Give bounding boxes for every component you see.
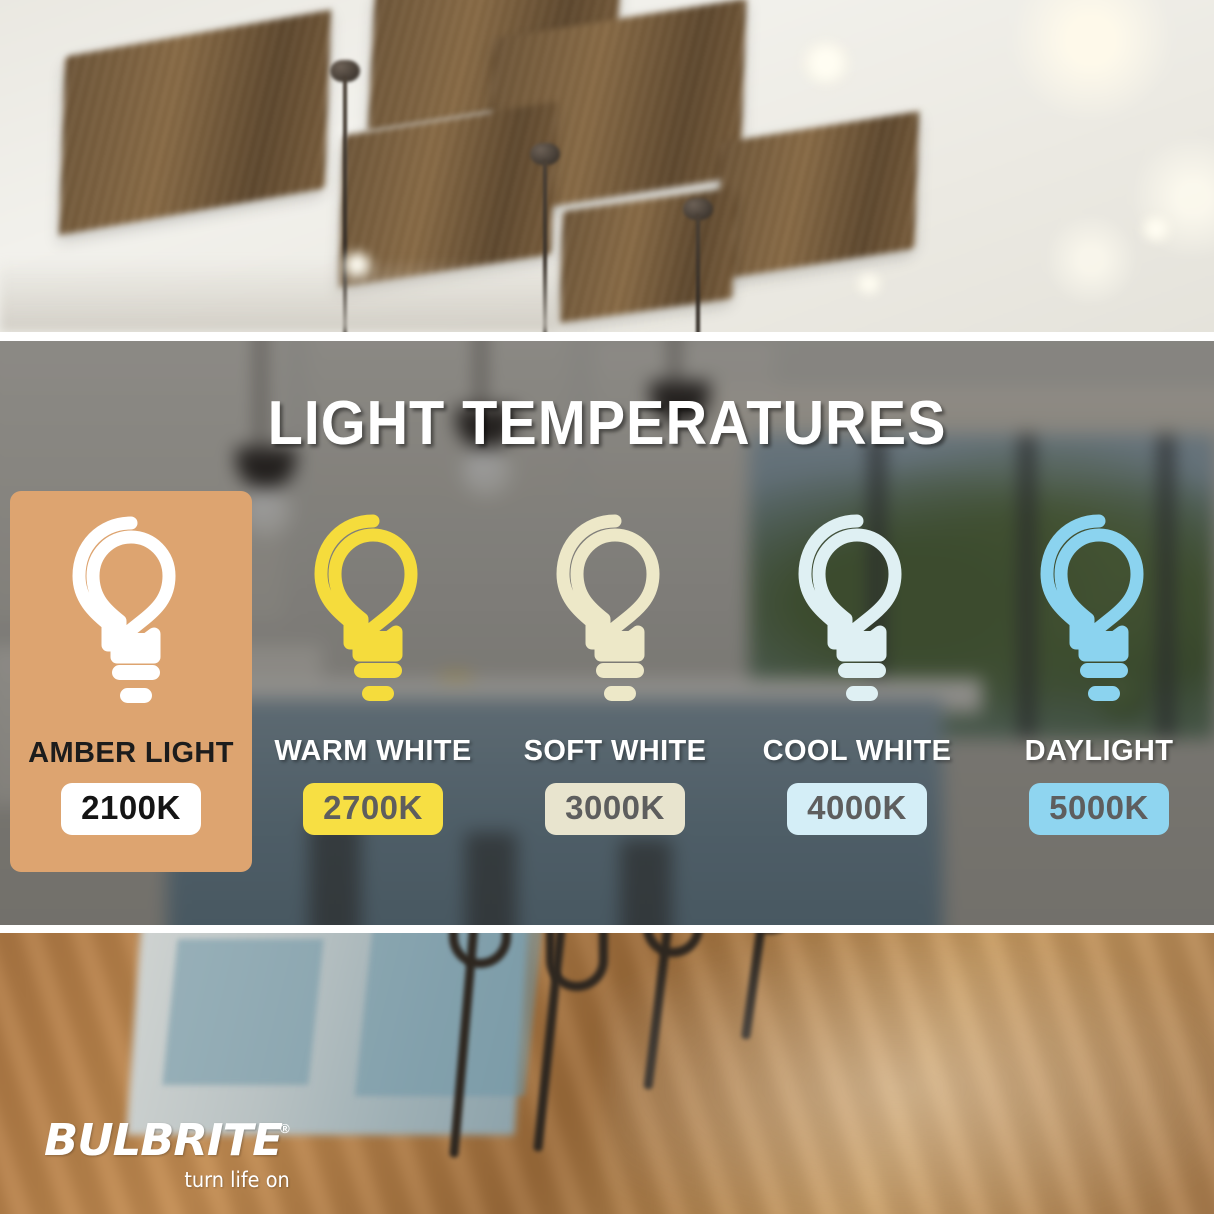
temperature-card-amber-light[interactable]: AMBER LIGHT2100K xyxy=(10,491,252,872)
island-panel xyxy=(355,933,543,1096)
logo-wordmark-row: BULBRITE ® xyxy=(44,1115,290,1166)
divider-bottom xyxy=(0,925,1214,933)
temperature-card-daylight[interactable]: DAYLIGHT5000K xyxy=(978,491,1214,891)
temperature-card-warm-white[interactable]: WARM WHITE2700K xyxy=(252,491,494,891)
divider-top xyxy=(0,332,1214,341)
ceiling-wall-shadow xyxy=(0,259,558,332)
card-label: DAYLIGHT xyxy=(978,735,1214,768)
infographic-content: LIGHT TEMPERATURES AMBER LIGHT2100KWARM … xyxy=(0,341,1214,925)
infographic-canvas: LIGHT TEMPERATURES AMBER LIGHT2100KWARM … xyxy=(0,0,1214,1214)
logo-tagline: turn life on xyxy=(64,1168,290,1192)
kelvin-badge-wrap: 5000K xyxy=(978,783,1214,835)
card-label: COOL WHITE xyxy=(736,735,978,768)
recessed-light xyxy=(800,40,852,86)
temperature-card-soft-white[interactable]: SOFT WHITE3000K xyxy=(494,491,736,891)
kelvin-badge[interactable]: 5000K xyxy=(1029,783,1169,835)
card-label: AMBER LIGHT xyxy=(10,737,252,770)
recessed-light xyxy=(855,272,883,296)
kelvin-badge-wrap: 2100K xyxy=(10,783,252,835)
kelvin-badge[interactable]: 4000K xyxy=(787,783,927,835)
recessed-light xyxy=(1140,215,1172,243)
card-label: SOFT WHITE xyxy=(494,735,736,768)
ceiling-photo-band xyxy=(0,0,1214,332)
logo-wordmark: BULBRITE xyxy=(44,1115,282,1166)
card-label: WARM WHITE xyxy=(252,735,494,768)
kelvin-badge-wrap: 2700K xyxy=(252,783,494,835)
island-panel xyxy=(162,939,323,1085)
kelvin-badge-wrap: 4000K xyxy=(736,783,978,835)
bulb-icon xyxy=(252,511,494,711)
kelvin-badge[interactable]: 2100K xyxy=(61,783,201,835)
bulb-icon xyxy=(10,513,252,713)
temperature-card-cool-white[interactable]: COOL WHITE4000K xyxy=(736,491,978,891)
kelvin-badge-wrap: 3000K xyxy=(494,783,736,835)
kelvin-badge[interactable]: 2700K xyxy=(303,783,443,835)
kelvin-badge[interactable]: 3000K xyxy=(545,783,685,835)
bulbrite-logo: BULBRITE ® turn life on xyxy=(44,1115,290,1192)
floor-highlight xyxy=(607,933,1214,1214)
page-title: LIGHT TEMPERATURES xyxy=(42,388,1171,459)
bulb-icon xyxy=(494,511,736,711)
registered-trademark-icon: ® xyxy=(280,1121,290,1136)
temperature-card-row: AMBER LIGHT2100KWARM WHITE2700KSOFT WHIT… xyxy=(0,491,1214,891)
bulb-icon xyxy=(736,511,978,711)
pendant-rod xyxy=(696,214,700,332)
bulb-icon xyxy=(978,511,1214,711)
